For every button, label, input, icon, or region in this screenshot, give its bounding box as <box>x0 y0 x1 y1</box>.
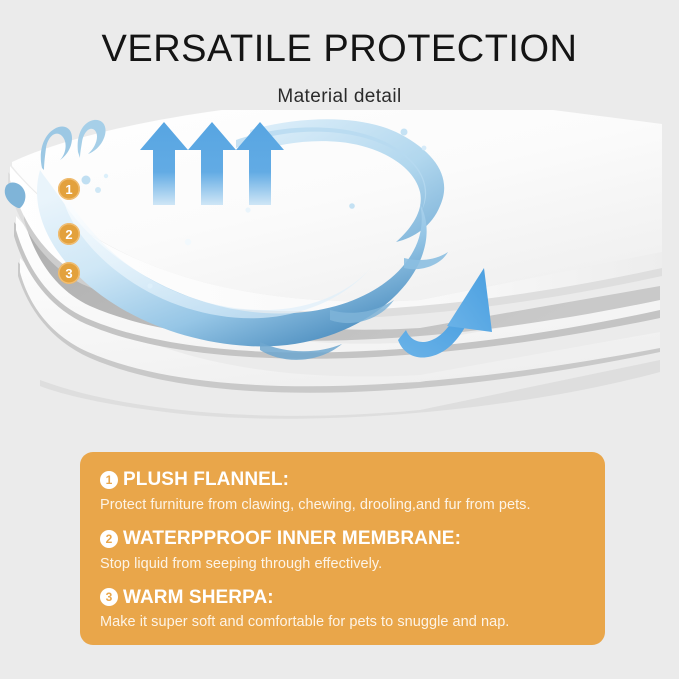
legend-badge-2: 2 <box>100 530 118 548</box>
header: VERSATILE PROTECTION Material detail <box>0 0 679 108</box>
legend-item-2-description: Stop liquid from seeping through effecti… <box>100 551 585 583</box>
legend-item-2-title: WATERPPROOF INNER MEMBRANE: <box>123 527 461 551</box>
infographic-root: VERSATILE PROTECTION Material detail <box>0 0 679 679</box>
page-subtitle: Material detail <box>0 68 679 108</box>
legend-item-3-title: WARM SHERPA: <box>123 586 274 610</box>
material-illustration <box>0 110 679 440</box>
legend-item-2-heading: 2 WATERPPROOF INNER MEMBRANE: <box>100 527 585 551</box>
layer-marker-3[interactable]: 3 <box>58 262 80 284</box>
legend-item-2: 2 WATERPPROOF INNER MEMBRANE: Stop liqui… <box>100 527 585 583</box>
legend-badge-3: 3 <box>100 588 118 606</box>
legend-panel: 1 PLUSH FLANNEL: Protect furniture from … <box>80 452 605 645</box>
layer-marker-2[interactable]: 2 <box>58 223 80 245</box>
page-title: VERSATILE PROTECTION <box>0 0 679 68</box>
layer-marker-1[interactable]: 1 <box>58 178 80 200</box>
legend-item-3-heading: 3 WARM SHERPA: <box>100 586 585 610</box>
legend-item-1-title: PLUSH FLANNEL: <box>123 468 289 492</box>
legend-item-1-description: Protect furniture from clawing, chewing,… <box>100 492 585 524</box>
legend-item-1-heading: 1 PLUSH FLANNEL: <box>100 468 585 492</box>
legend-item-1: 1 PLUSH FLANNEL: Protect furniture from … <box>100 468 585 524</box>
legend-item-3: 3 WARM SHERPA: Make it super soft and co… <box>100 586 585 642</box>
legend-badge-1: 1 <box>100 471 118 489</box>
repel-arrows <box>140 122 284 205</box>
legend-item-3-description: Make it super soft and comfortable for p… <box>100 609 585 641</box>
